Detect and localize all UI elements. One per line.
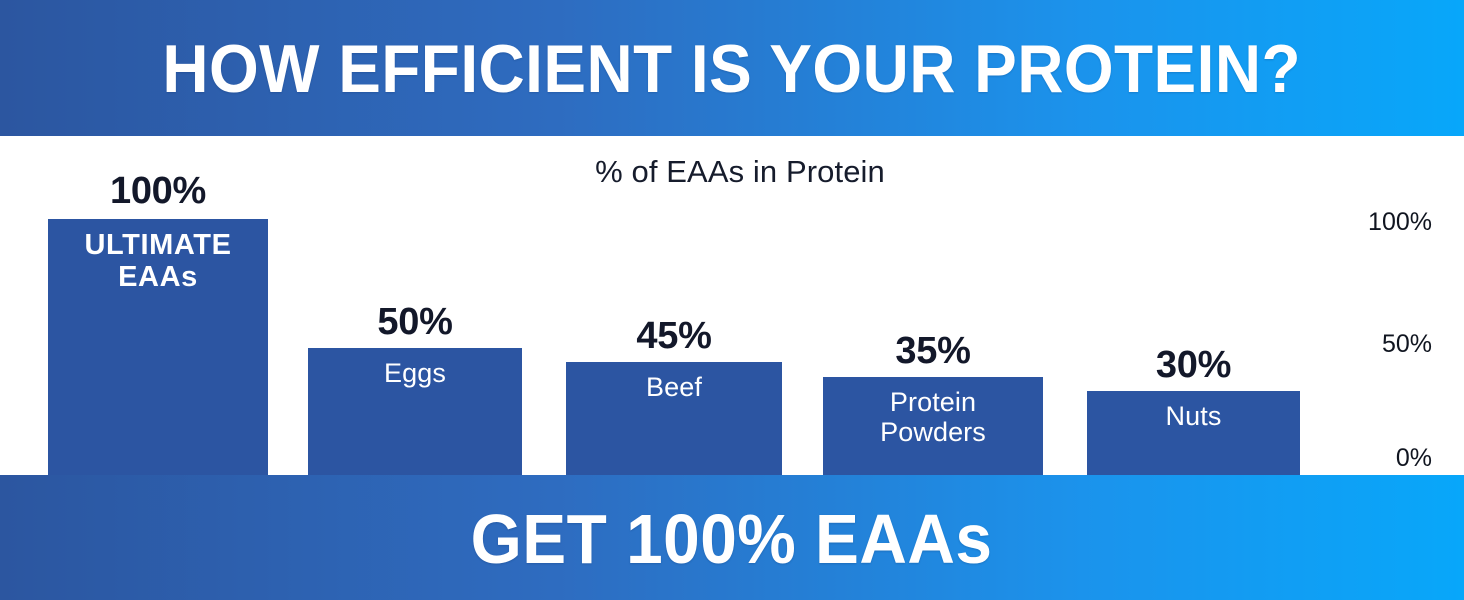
- bar-label-line2: EAAs: [118, 261, 198, 293]
- bar-label-line1: Eggs: [384, 358, 446, 388]
- bar-group-protein-powders: Protein Powders 35%: [823, 136, 1043, 475]
- bar-label-line1: ULTIMATE: [84, 229, 231, 261]
- protein-efficiency-infographic: HOW EFFICIENT IS YOUR PROTEIN? % of EAAs…: [0, 0, 1464, 600]
- bar-group-eggs: Eggs 50%: [308, 136, 522, 475]
- bar-label-line2: Powders: [880, 417, 986, 447]
- bar-group-beef: Beef 45%: [566, 136, 782, 475]
- bar-label-line1: Protein: [890, 387, 976, 417]
- bar-label-ultimate-eaas: ULTIMATE EAAs: [48, 219, 268, 475]
- bar-value-ultimate-eaas: 100%: [48, 171, 268, 211]
- page-title: HOW EFFICIENT IS YOUR PROTEIN?: [163, 35, 1302, 103]
- axis-tick-0: 0%: [1312, 446, 1432, 471]
- bar-eggs[interactable]: Eggs 50%: [308, 348, 522, 475]
- bar-label-line1: Nuts: [1166, 401, 1222, 431]
- axis-tick-100: 100%: [1312, 210, 1432, 235]
- bar-group-nuts: Nuts 30%: [1087, 136, 1300, 475]
- footer-banner[interactable]: GET 100% EAAs: [0, 475, 1464, 600]
- bar-value-beef: 45%: [566, 316, 782, 356]
- bar-label-eggs: Eggs: [308, 348, 522, 475]
- y-axis: 100% 50% 0%: [1312, 136, 1432, 475]
- bar-ultimate-eaas[interactable]: ULTIMATE EAAs 100%: [48, 219, 268, 475]
- header-banner: HOW EFFICIENT IS YOUR PROTEIN?: [0, 0, 1464, 136]
- bar-protein-powders[interactable]: Protein Powders 35%: [823, 377, 1043, 475]
- bar-group-ultimate-eaas: ULTIMATE EAAs 100%: [48, 136, 268, 475]
- bar-label-nuts: Nuts: [1087, 391, 1300, 475]
- bar-value-eggs: 50%: [308, 302, 522, 342]
- bar-nuts[interactable]: Nuts 30%: [1087, 391, 1300, 475]
- bar-beef[interactable]: Beef 45%: [566, 362, 782, 475]
- bar-label-protein-powders: Protein Powders: [823, 377, 1043, 475]
- bar-chart: % of EAAs in Protein ULTIMATE EAAs 100% …: [0, 136, 1464, 475]
- bar-label-beef: Beef: [566, 362, 782, 475]
- cta-text: GET 100% EAAs: [471, 504, 993, 574]
- bar-label-line1: Beef: [646, 372, 702, 402]
- bar-value-protein-powders: 35%: [823, 331, 1043, 371]
- bar-value-nuts: 30%: [1087, 345, 1300, 385]
- axis-tick-50: 50%: [1312, 332, 1432, 357]
